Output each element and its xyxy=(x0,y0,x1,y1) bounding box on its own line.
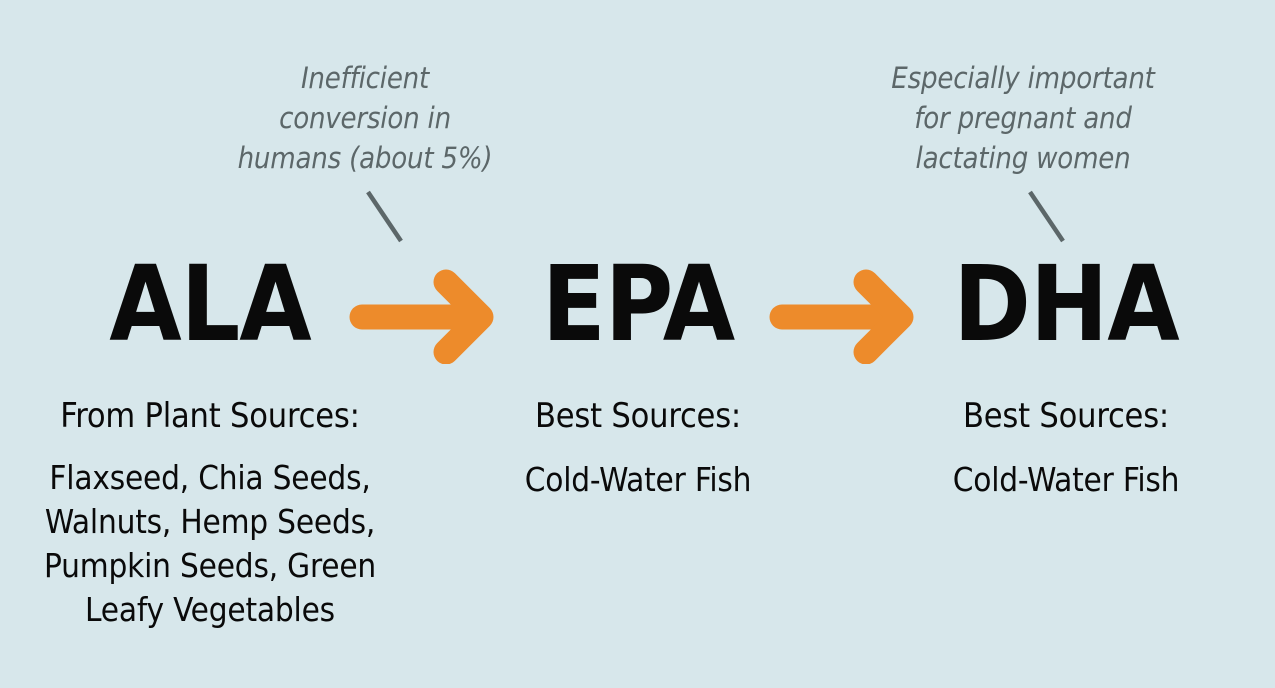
annotation-epa-to-dha: Especially important for pregnant and la… xyxy=(858,58,1188,178)
chain-node-dha-label: DHA xyxy=(916,252,1216,356)
chain-node-epa-label: EPA xyxy=(488,252,788,356)
source-list-epa: Cold-Water Fish xyxy=(464,458,812,502)
source-heading-ala: From Plant Sources: xyxy=(18,394,402,438)
diagram-canvas: Inefficient conversion in humans (about … xyxy=(0,0,1275,688)
arrow-right-icon xyxy=(348,268,506,364)
source-column-ala: From Plant Sources: Flaxseed, Chia Seeds… xyxy=(18,394,402,632)
annotation-ala-to-epa: Inefficient conversion in humans (about … xyxy=(200,58,530,178)
leader-line-ala-to-epa-annotation xyxy=(352,178,422,254)
arrow-right-icon xyxy=(768,268,926,364)
source-heading-dha: Best Sources: xyxy=(892,394,1240,438)
chain-node-ala-label: ALA xyxy=(60,252,360,356)
pathway-chain: ALA EPA DHA xyxy=(0,252,1275,357)
source-column-dha: Best Sources: Cold-Water Fish xyxy=(892,394,1240,502)
source-column-epa: Best Sources: Cold-Water Fish xyxy=(464,394,812,502)
source-list-ala: Flaxseed, Chia Seeds, Walnuts, Hemp Seed… xyxy=(18,456,402,632)
source-list-dha: Cold-Water Fish xyxy=(892,458,1240,502)
source-heading-epa: Best Sources: xyxy=(464,394,812,438)
